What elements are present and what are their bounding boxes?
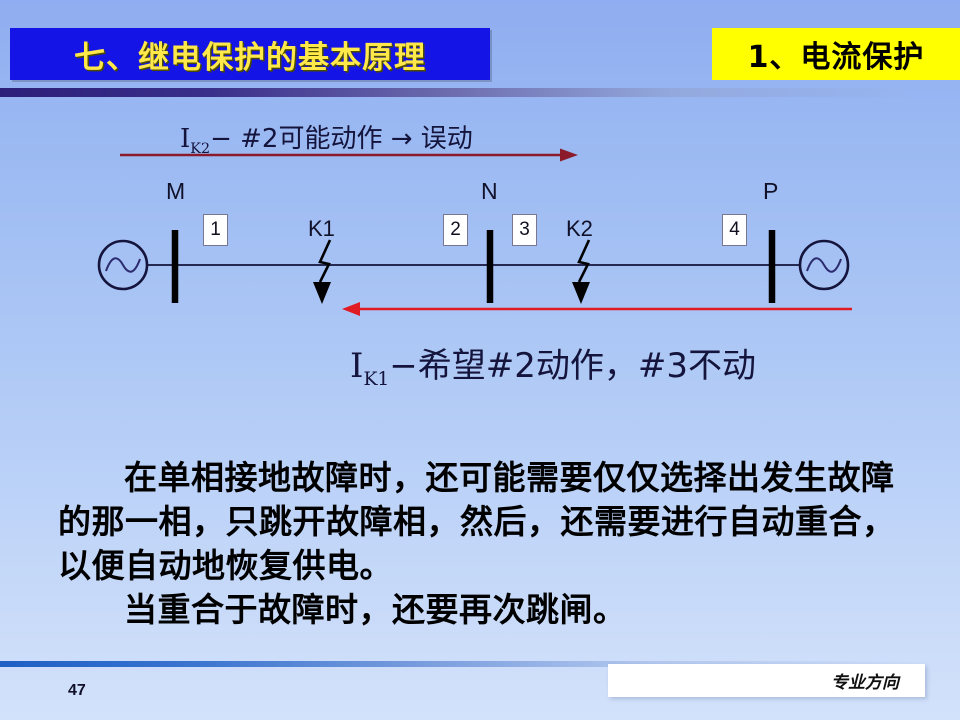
one-line-circuit-diagram: M N P K1 K2 1 2 3 4 <box>0 178 960 308</box>
page-title: 七、继电保护的基本原理 <box>74 32 426 77</box>
formula-bottom-text: 希望#2动作，#3不动 <box>418 346 756 386</box>
formula-bottom-dash: − <box>389 346 418 386</box>
formula-bottom: IK1−希望#2动作，#3不动 <box>350 338 756 390</box>
ac-source-right-icon <box>800 241 848 289</box>
fault-symbol-k2 <box>572 240 590 304</box>
slide-subtitle-banner: 1、电流保护 <box>712 28 960 80</box>
fault-current-arrow-left <box>340 300 865 318</box>
body-paragraph-2: 当重合于故障时，还要再次跳闸。 <box>58 588 908 632</box>
body-paragraph-1: 在单相接地故障时，还可能需要仅仅选择出发生故障的那一相，只跳开故障相，然后，还需… <box>58 456 908 588</box>
circuit-svg <box>0 178 960 308</box>
footer-brand-label: 专业方向 <box>831 668 925 693</box>
footer-brand-box: 专业方向 <box>608 664 925 697</box>
header-divider-rule <box>0 88 960 97</box>
body-text-block: 在单相接地故障时，还可能需要仅仅选择出发生故障的那一相，只跳开故障相，然后，还需… <box>58 456 908 632</box>
page-number: 47 <box>68 682 86 700</box>
page-subtitle: 1、电流保护 <box>748 32 925 76</box>
slide-canvas: 七、继电保护的基本原理 1、电流保护 IK2− #2可能动作 → 误动 M N … <box>0 0 960 720</box>
slide-title-banner: 七、继电保护的基本原理 <box>10 28 490 80</box>
formula-bottom-symbol: I <box>350 346 363 386</box>
formula-bottom-subscript: K1 <box>363 369 389 390</box>
fault-current-arrow-right <box>120 146 580 164</box>
fault-symbol-k1 <box>313 240 331 304</box>
ac-source-left-icon <box>99 241 147 289</box>
